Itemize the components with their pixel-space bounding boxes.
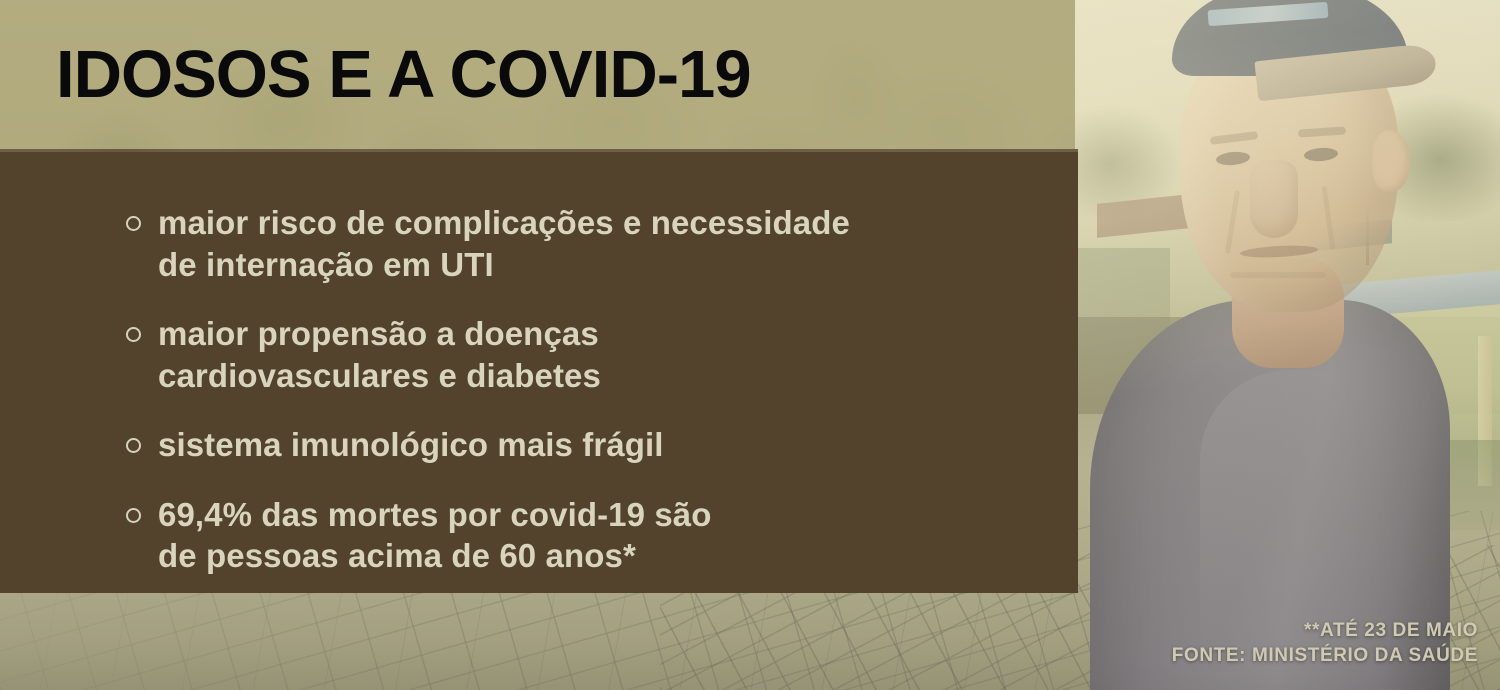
list-item-text: maior risco de complicações e necessidad… bbox=[158, 202, 850, 285]
source-footnote: **ATÉ 23 DE MAIO FONTE: MINISTÉRIO DA SA… bbox=[1172, 619, 1478, 668]
slide-root: IDOSOS E A COVID-19 maior risco de compl… bbox=[0, 0, 1500, 690]
circle-bullet-icon bbox=[126, 216, 141, 231]
list-item: 69,4% das mortes por covid-19 são de pes… bbox=[126, 494, 1038, 577]
page-title: IDOSOS E A COVID-19 bbox=[56, 41, 751, 108]
list-item: sistema imunológico mais frágil bbox=[126, 424, 1038, 466]
title-band: IDOSOS E A COVID-19 bbox=[0, 0, 1075, 149]
list-item: maior propensão a doenças cardiovascular… bbox=[126, 313, 1038, 396]
list-item-text: 69,4% das mortes por covid-19 são de pes… bbox=[158, 494, 712, 577]
list-item-text: sistema imunológico mais frágil bbox=[158, 424, 664, 466]
bullet-list: maior risco de complicações e necessidad… bbox=[126, 202, 1038, 577]
footnote-date: **ATÉ 23 DE MAIO bbox=[1172, 619, 1478, 643]
circle-bullet-icon bbox=[126, 438, 141, 453]
list-item: maior risco de complicações e necessidad… bbox=[126, 202, 1038, 285]
footnote-source: FONTE: MINISTÉRIO DA SAÚDE bbox=[1172, 644, 1478, 668]
list-item-text: maior propensão a doenças cardiovascular… bbox=[158, 313, 601, 396]
content-panel: maior risco de complicações e necessidad… bbox=[0, 152, 1078, 593]
circle-bullet-icon bbox=[126, 327, 141, 342]
circle-bullet-icon bbox=[126, 508, 141, 523]
